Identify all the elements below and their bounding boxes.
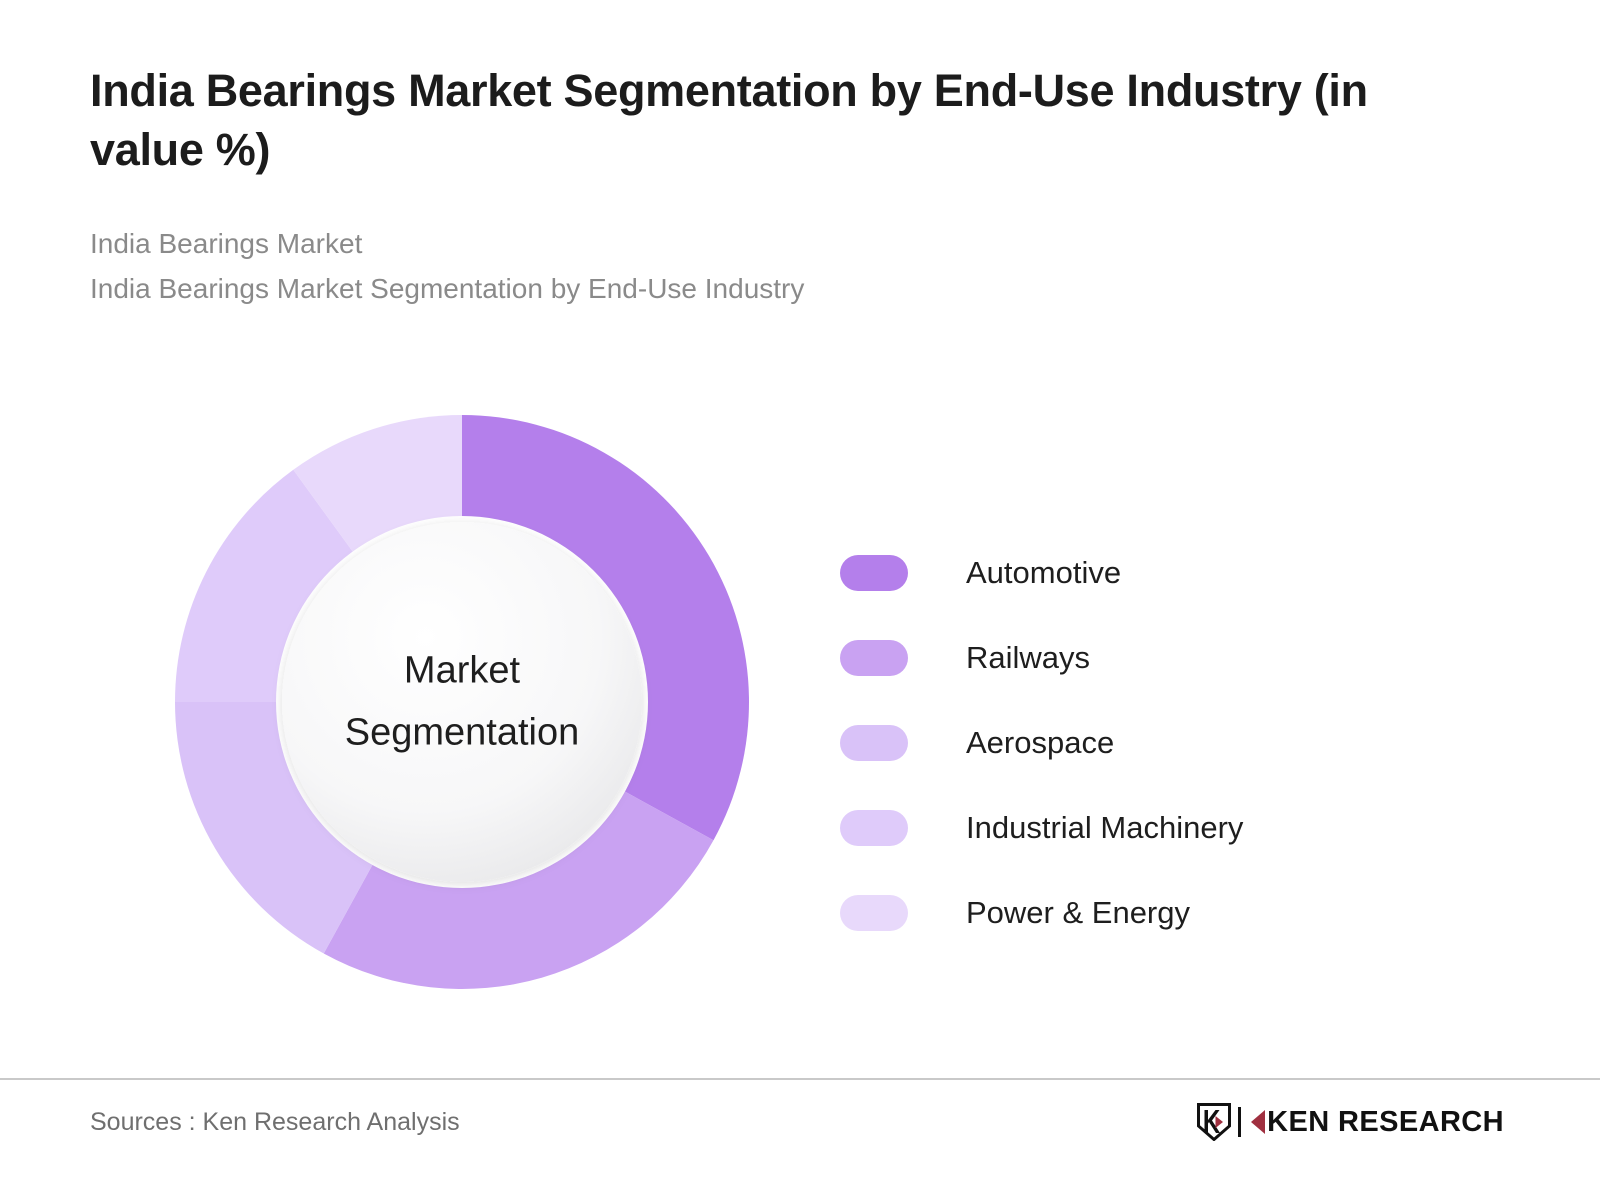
donut-chart: Market Segmentation <box>172 412 752 992</box>
legend-label: Automotive <box>966 555 1121 591</box>
header: India Bearings Market Segmentation by En… <box>90 62 1510 312</box>
legend-swatch-icon <box>840 725 908 761</box>
brand-divider <box>1238 1107 1241 1137</box>
subtitle-line-2: India Bearings Market Segmentation by En… <box>90 266 1510 311</box>
legend-label: Aerospace <box>966 725 1114 761</box>
legend-item[interactable]: Railways <box>840 615 1400 700</box>
chart-page: India Bearings Market Segmentation by En… <box>0 0 1600 1200</box>
legend-swatch-icon <box>840 810 908 846</box>
legend-label: Industrial Machinery <box>966 810 1243 846</box>
brand-text: KEN RESEARCH <box>1267 1106 1504 1139</box>
legend-item[interactable]: Aerospace <box>840 700 1400 785</box>
legend-label: Railways <box>966 640 1090 676</box>
legend-item[interactable]: Industrial Machinery <box>840 785 1400 870</box>
brand-accent-wedge-icon <box>1250 1109 1266 1135</box>
donut-svg <box>172 412 752 992</box>
legend-label: Power & Energy <box>966 895 1190 931</box>
ken-research-shield-icon <box>1197 1103 1231 1141</box>
brand-logo: KEN RESEARCH <box>1197 1102 1504 1142</box>
donut-hub <box>282 522 642 882</box>
footer: Sources : Ken Research Analysis KEN RESE… <box>0 1080 1600 1200</box>
sources-text: Sources : Ken Research Analysis <box>90 1108 460 1137</box>
legend-swatch-icon <box>840 895 908 931</box>
legend-swatch-icon <box>840 555 908 591</box>
page-title: India Bearings Market Segmentation by En… <box>90 62 1490 179</box>
chart-legend: AutomotiveRailwaysAerospaceIndustrial Ma… <box>840 530 1400 955</box>
legend-swatch-icon <box>840 640 908 676</box>
legend-item[interactable]: Automotive <box>840 530 1400 615</box>
subtitle-line-1: India Bearings Market <box>90 221 1510 266</box>
chart-area: Market Segmentation AutomotiveRailwaysAe… <box>0 400 1600 1040</box>
subtitle-block: India Bearings Market India Bearings Mar… <box>90 221 1510 312</box>
legend-item[interactable]: Power & Energy <box>840 870 1400 955</box>
